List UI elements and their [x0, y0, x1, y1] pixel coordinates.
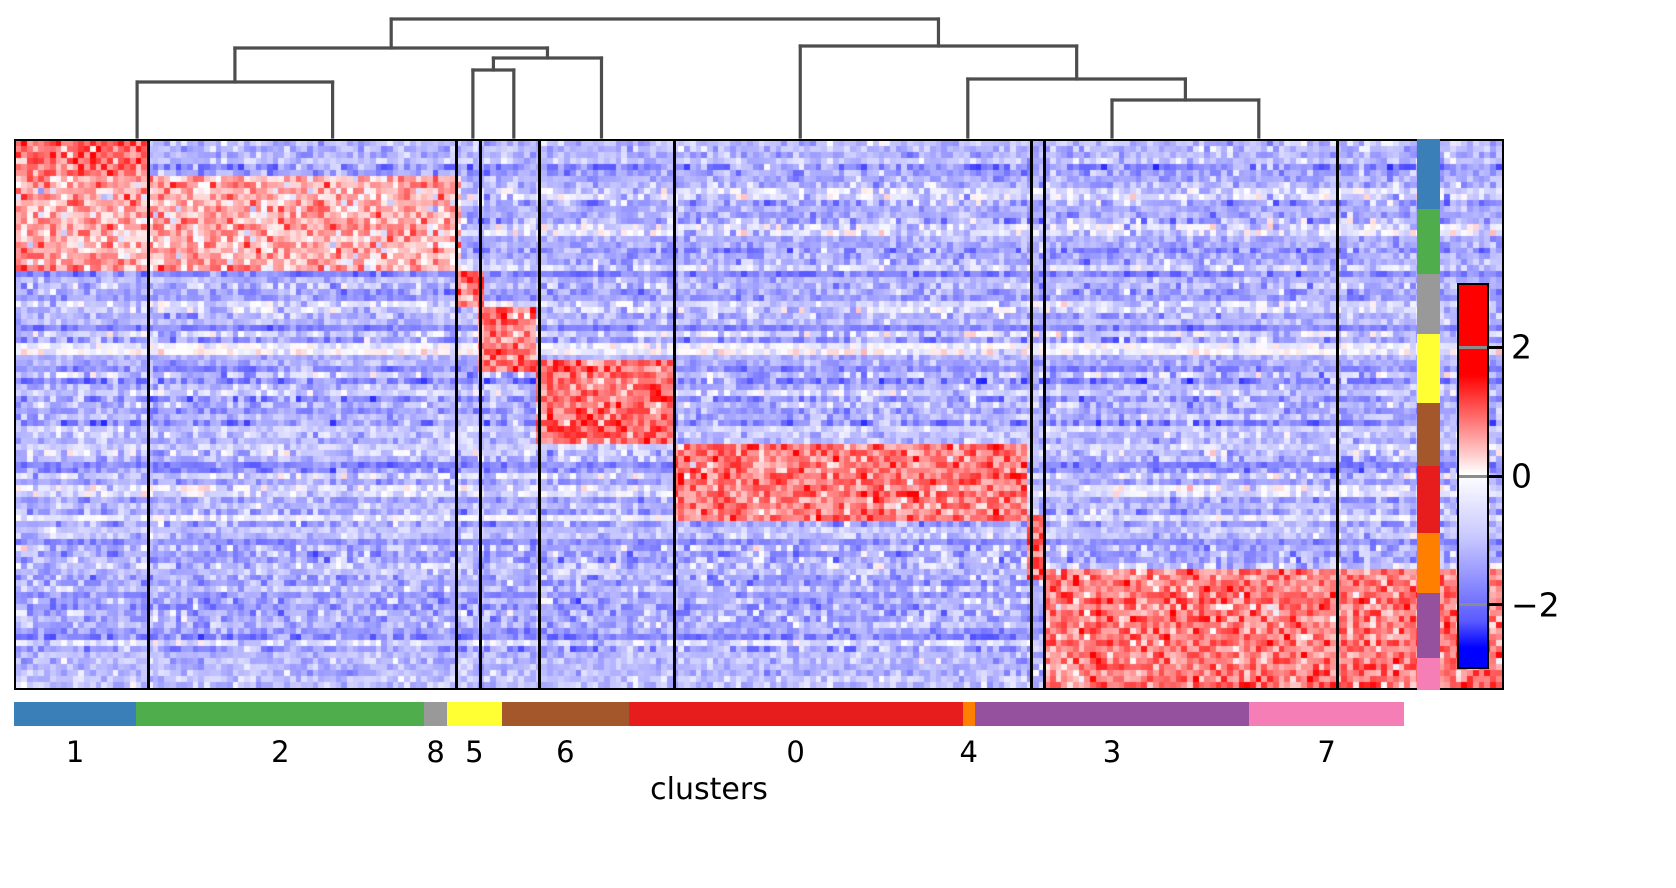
cluster-label-2: 2 — [271, 728, 289, 776]
cluster-separator-line — [479, 141, 482, 688]
cluster-label-7: 7 — [1317, 728, 1335, 776]
column-cluster-segment-2 — [136, 702, 424, 726]
colorbar-tick-label: 0 — [1511, 457, 1532, 496]
colorbar-tick-mark — [1489, 346, 1503, 349]
column-cluster-segment-6 — [502, 702, 629, 726]
heatmap-figure: 128560437 clusters 20−2 — [0, 0, 1676, 888]
column-cluster-color-strip — [14, 702, 1404, 726]
column-cluster-segment-3 — [975, 702, 1249, 726]
cluster-separator-line — [673, 141, 676, 688]
cluster-separator-lines — [16, 141, 1502, 688]
row-cluster-segment-5 — [1417, 466, 1440, 533]
cluster-label-0: 0 — [786, 728, 804, 776]
row-cluster-segment-1 — [1417, 209, 1440, 274]
cluster-label-4: 4 — [959, 728, 977, 776]
row-cluster-color-strip — [1417, 139, 1440, 690]
row-cluster-segment-3 — [1417, 334, 1440, 403]
row-cluster-segment-6 — [1417, 533, 1440, 593]
row-cluster-segment-0 — [1417, 139, 1440, 209]
column-cluster-segment-7 — [1249, 702, 1404, 726]
column-cluster-segment-5 — [447, 702, 502, 726]
heatmap-panel — [14, 139, 1504, 690]
colorbar-ticks: 20−2 — [1457, 283, 1597, 669]
colorbar-inner-tick — [1459, 603, 1487, 606]
colorbar-inner-tick — [1459, 475, 1487, 478]
column-dendrogram — [0, 0, 1676, 140]
cluster-separator-line — [1336, 141, 1339, 688]
cluster-label-8: 8 — [426, 728, 444, 776]
cluster-separator-line — [455, 141, 458, 688]
colorbar-tick-mark — [1489, 475, 1503, 478]
column-cluster-segment-4 — [963, 702, 975, 726]
column-cluster-segment-8 — [424, 702, 446, 726]
cluster-separator-line — [147, 141, 150, 688]
cluster-label-1: 1 — [66, 728, 84, 776]
cluster-label-6: 6 — [556, 728, 574, 776]
colorbar-tick-mark — [1489, 603, 1503, 606]
column-cluster-segment-0 — [629, 702, 963, 726]
colorbar-tick-label: −2 — [1511, 585, 1560, 624]
column-cluster-segment-1 — [14, 702, 136, 726]
cluster-label-3: 3 — [1103, 728, 1121, 776]
row-cluster-segment-8 — [1417, 658, 1440, 690]
x-axis-title: clusters — [14, 772, 1404, 807]
colorbar-tick-label: 2 — [1511, 328, 1532, 367]
row-cluster-segment-2 — [1417, 274, 1440, 334]
cluster-tick-labels: 128560437 — [0, 728, 1676, 776]
cluster-separator-line — [1030, 141, 1033, 688]
row-cluster-segment-4 — [1417, 403, 1440, 466]
colorbar-inner-tick — [1459, 346, 1487, 349]
cluster-label-5: 5 — [465, 728, 483, 776]
cluster-separator-line — [1043, 141, 1046, 688]
cluster-separator-line — [538, 141, 541, 688]
row-cluster-segment-7 — [1417, 593, 1440, 658]
